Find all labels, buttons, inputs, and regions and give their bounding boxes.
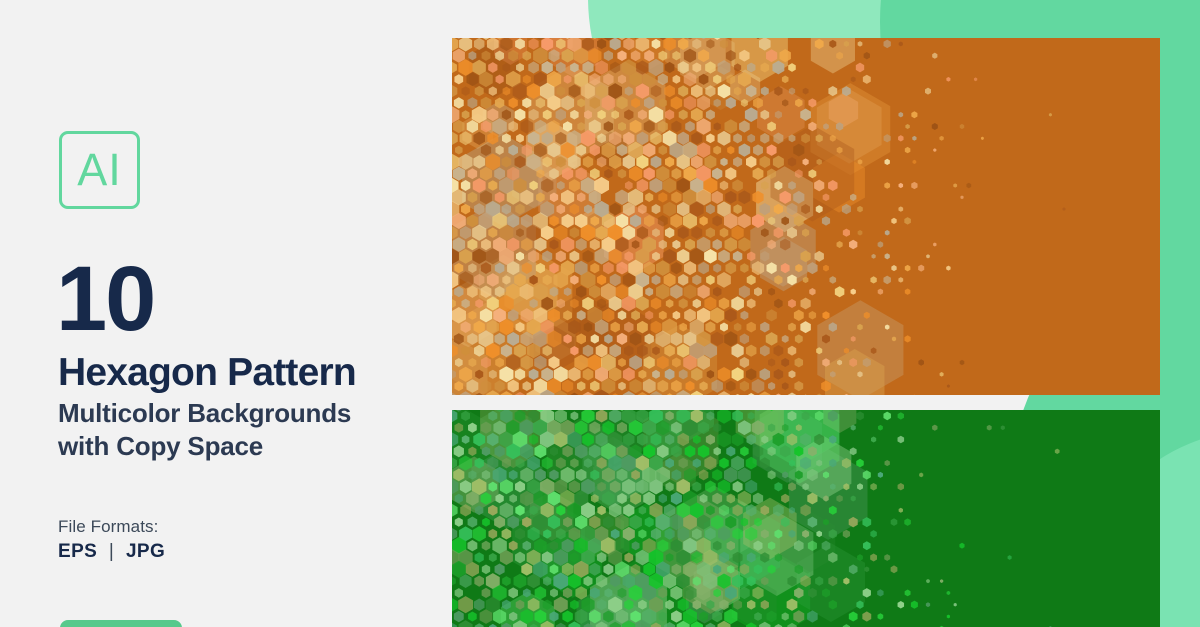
- item-count: 10: [56, 253, 154, 345]
- subtitle-line-2: with Copy Space: [58, 430, 351, 463]
- banner-canvas: AI 10 Hexagon Pattern Multicolor Backgro…: [0, 0, 1200, 627]
- file-format-separator: |: [103, 541, 120, 562]
- file-formats-label: File Formats:: [58, 517, 158, 537]
- ai-badge-label: AI: [77, 147, 122, 192]
- file-formats-value: EPS | JPG: [58, 541, 165, 563]
- bottom-accent-pill: [60, 620, 182, 627]
- ai-format-badge: AI: [59, 131, 140, 209]
- green-hexagon-preview: [452, 410, 1160, 627]
- info-panel: AI 10 Hexagon Pattern Multicolor Backgro…: [0, 0, 452, 627]
- orange-hexagon-preview: [452, 38, 1160, 395]
- page-title: Hexagon Pattern: [58, 353, 356, 392]
- subtitle-line-1: Multicolor Backgrounds: [58, 397, 351, 430]
- file-format-eps: EPS: [58, 541, 97, 562]
- subtitle: Multicolor Backgrounds with Copy Space: [58, 397, 351, 464]
- file-format-jpg: JPG: [126, 541, 165, 562]
